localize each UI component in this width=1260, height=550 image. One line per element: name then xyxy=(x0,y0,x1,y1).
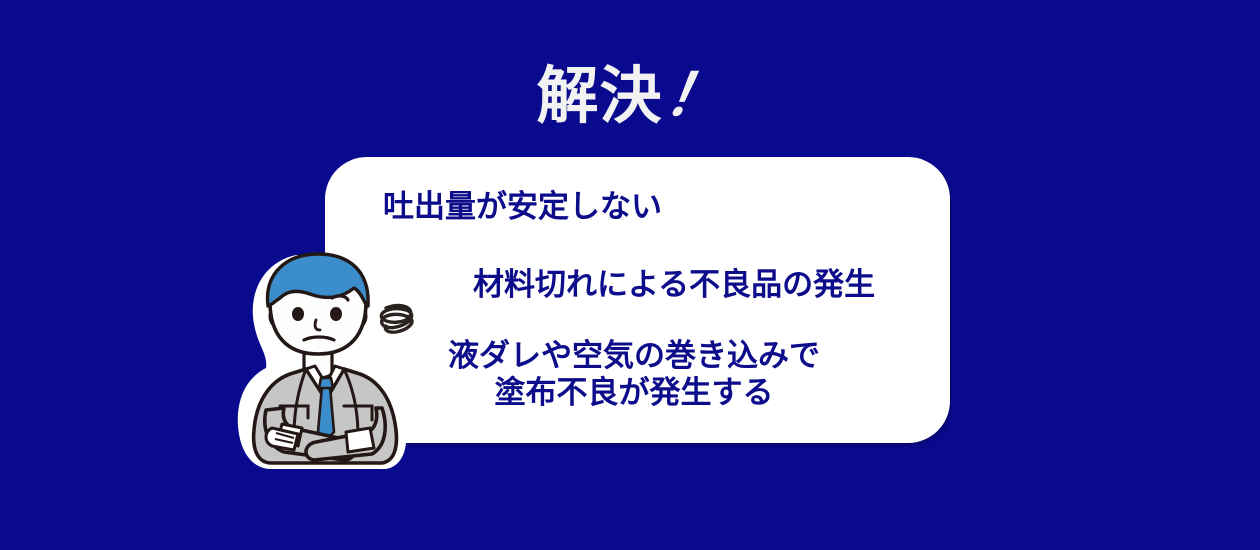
card-line-2: 材料切れによる不良品の発生 xyxy=(473,267,875,304)
card-line-1: 吐出量が安定しない xyxy=(383,189,662,226)
page-title: 解決！ xyxy=(0,66,1260,128)
card-line-3b: 塗布不良が発生する xyxy=(399,375,869,412)
title-exclamation: ！ xyxy=(659,67,728,125)
troubled-businessman-illustration xyxy=(236,250,416,475)
title-kanji: 解決 xyxy=(536,66,662,128)
eye-left xyxy=(292,307,304,321)
eye-right xyxy=(330,307,342,321)
slide-canvas: 解決！ 吐出量が安定しない 材料切れによる不良品の発生 液ダレや空気の巻き込みで… xyxy=(0,0,1260,550)
necktie-knot xyxy=(319,378,333,388)
card-line-3a: 液ダレや空気の巻き込みで xyxy=(399,338,869,375)
confusion-scribble-icon xyxy=(381,306,412,333)
card-line-3: 液ダレや空気の巻き込みで 塗布不良が発生する xyxy=(399,338,869,411)
content-card: 吐出量が安定しない 材料切れによる不良品の発生 液ダレや空気の巻き込みで 塗布不… xyxy=(325,157,950,443)
cuff-right xyxy=(346,428,374,452)
necktie xyxy=(318,386,334,440)
card-text-group: 吐出量が安定しない 材料切れによる不良品の発生 液ダレや空気の巻き込みで 塗布不… xyxy=(325,157,950,443)
